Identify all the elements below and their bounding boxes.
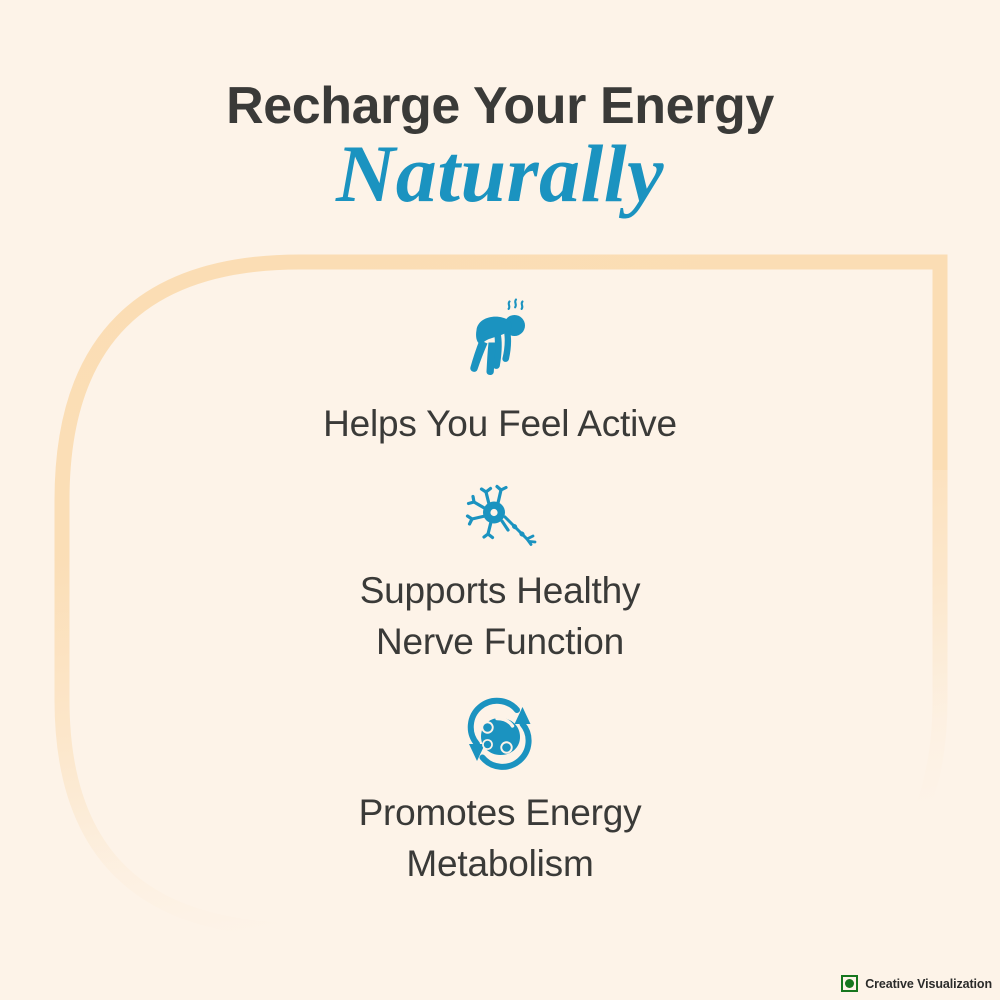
- vegetarian-mark-icon: [841, 975, 858, 992]
- vegetarian-dot: [845, 979, 854, 988]
- headline-block: Recharge Your Energy Naturally: [0, 78, 1000, 216]
- creative-visualization-badge: Creative Visualization: [841, 975, 992, 992]
- benefit-label: Promotes Energy Metabolism: [0, 787, 1000, 889]
- benefit-label: Supports Healthy Nerve Function: [0, 565, 1000, 667]
- headline-line-2: Naturally: [0, 132, 1000, 216]
- disclaimer-text: Creative Visualization: [865, 977, 992, 991]
- benefit-label: Helps You Feel Active: [0, 398, 1000, 449]
- headline-line-1: Recharge Your Energy: [0, 78, 1000, 134]
- benefit-item-feel-active: Helps You Feel Active: [0, 296, 1000, 449]
- benefit-item-nerve-function: Supports Healthy Nerve Function: [0, 483, 1000, 667]
- benefit-list: Helps You Feel Active: [0, 296, 1000, 911]
- fatigued-person-icon: [0, 296, 1000, 382]
- benefit-item-energy-metabolism: Promotes Energy Metabolism: [0, 697, 1000, 889]
- poster-canvas: Recharge Your Energy Naturally: [0, 0, 1000, 1000]
- energy-metabolism-icon: [0, 697, 1000, 771]
- neuron-icon: [0, 483, 1000, 549]
